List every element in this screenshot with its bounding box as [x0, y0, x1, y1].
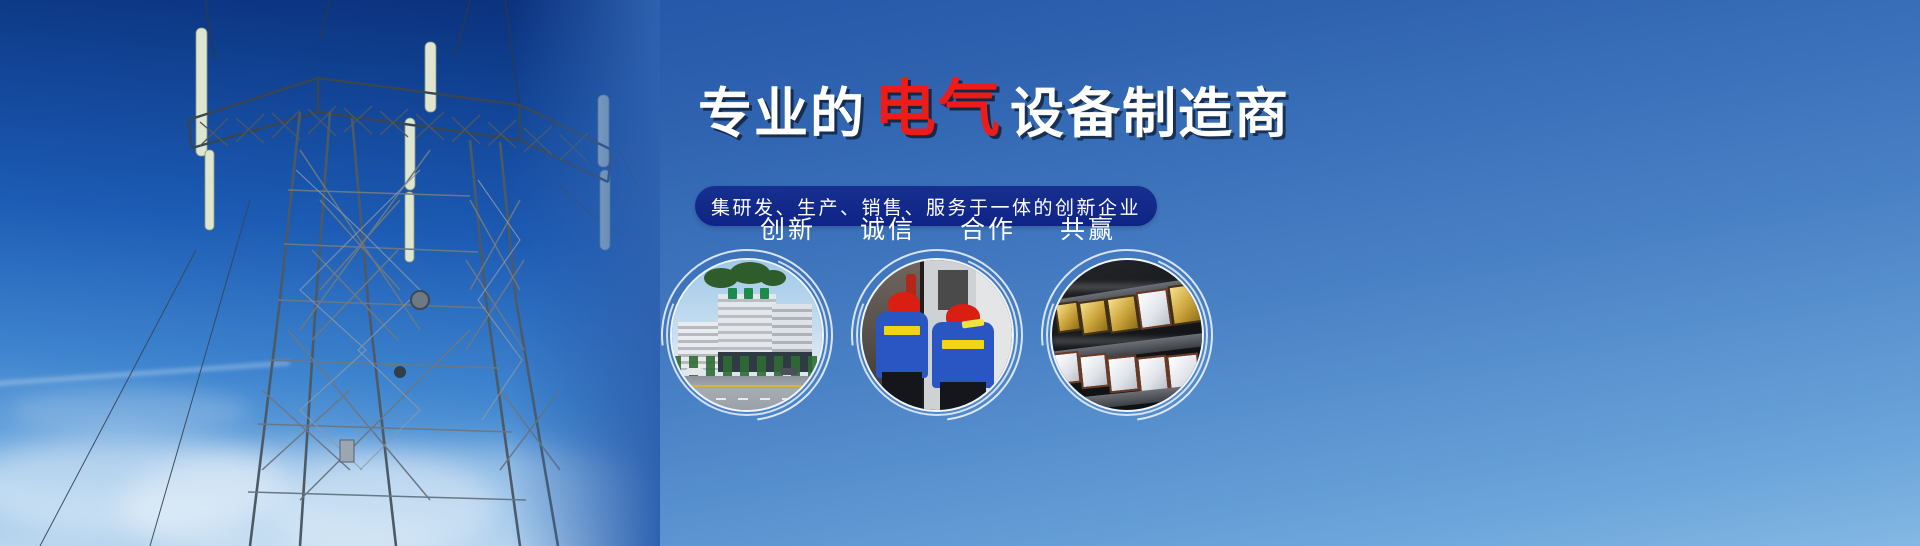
keyword-list: 创新 诚信 合作 共赢	[760, 210, 1116, 246]
keyword-item: 共赢	[1060, 210, 1116, 246]
circle-photo-honor-wall	[1050, 258, 1204, 412]
keyword-item: 诚信	[860, 210, 916, 246]
circle-photo-office	[670, 258, 824, 412]
headline-highlight: 电气	[866, 79, 1010, 141]
office-building-photo	[670, 258, 824, 412]
headline-part-2: 设备制造商	[1010, 87, 1290, 141]
transmission-tower-photo	[0, 0, 660, 546]
circle-photo-group	[660, 258, 1280, 433]
tower-illustration	[0, 0, 660, 546]
workers-installation-photo	[860, 258, 1014, 412]
headline-part-1: 专业的	[698, 87, 866, 141]
hero-banner: 专业的 电气 设备制造商 集研发、生产、销售、服务于一体的创新企业 创新 诚信 …	[0, 0, 1920, 546]
keyword-item: 创新	[760, 210, 816, 246]
circle-photo-workers	[860, 258, 1014, 412]
keyword-item: 合作	[960, 210, 1016, 246]
page-title: 专业的 电气 设备制造商	[698, 79, 1290, 141]
honor-wall-photo	[1050, 258, 1204, 412]
